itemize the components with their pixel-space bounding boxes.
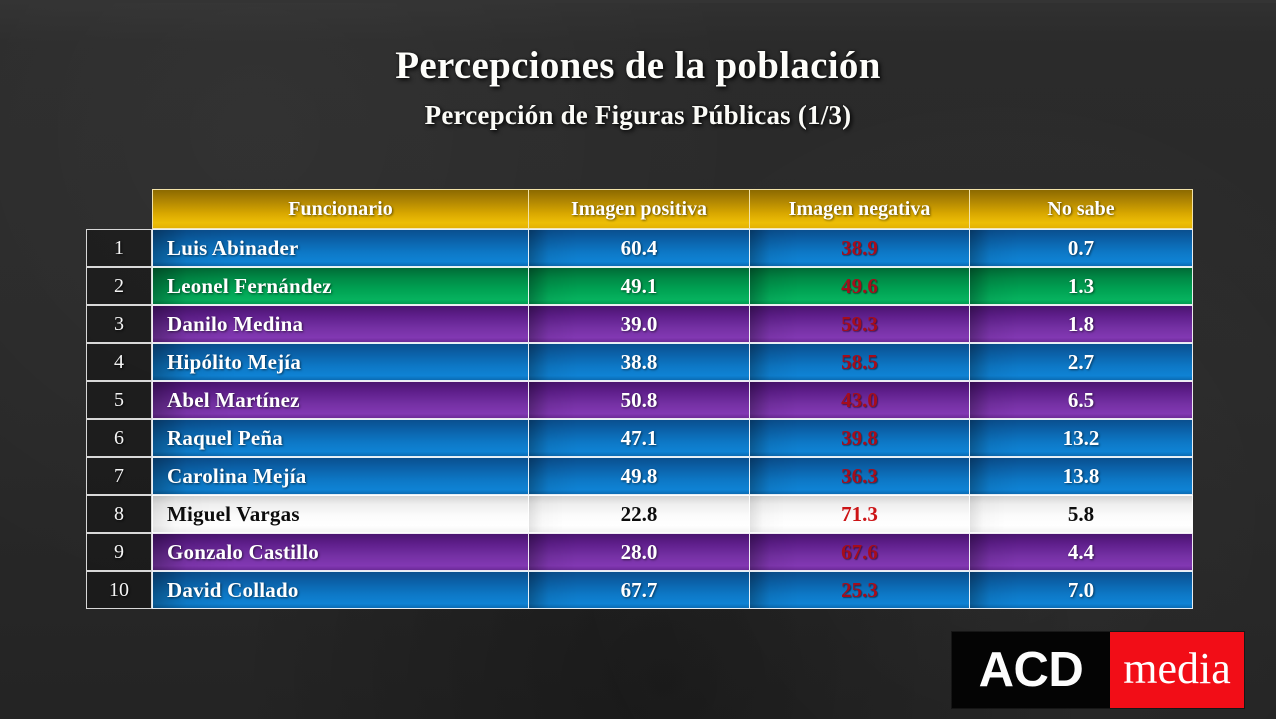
table-header: Funcionario Imagen positiva Imagen negat… <box>86 189 1193 229</box>
cell-imagen-negativa: 71.3 <box>749 495 969 533</box>
cell-no-sabe: 7.0 <box>969 571 1193 609</box>
cell-imagen-positiva: 47.1 <box>528 419 749 457</box>
row-number: 9 <box>86 533 152 571</box>
negative-value-text: 58.5 <box>841 350 878 374</box>
cell-imagen-positiva: 49.8 <box>528 457 749 495</box>
table-header-row: Funcionario Imagen positiva Imagen negat… <box>86 189 1193 229</box>
table-row: 4Hipólito Mejía38.858.52.7 <box>86 343 1193 381</box>
row-number: 5 <box>86 381 152 419</box>
cell-funcionario: David Collado <box>152 571 528 609</box>
cell-imagen-negativa: 59.3 <box>749 305 969 343</box>
negative-value-text: 43.0 <box>841 388 878 412</box>
cell-imagen-negativa: 43.0 <box>749 381 969 419</box>
perception-table-container: Funcionario Imagen positiva Imagen negat… <box>86 189 1193 614</box>
header-corner-cell <box>86 189 152 229</box>
cell-funcionario: Leonel Fernández <box>152 267 528 305</box>
cell-no-sabe: 5.8 <box>969 495 1193 533</box>
acd-media-logo: ACD media <box>952 632 1244 708</box>
cell-imagen-positiva: 49.1 <box>528 267 749 305</box>
row-number: 1 <box>86 229 152 267</box>
cell-imagen-positiva: 39.0 <box>528 305 749 343</box>
table-row: 1Luis Abinader60.438.90.7 <box>86 229 1193 267</box>
cell-no-sabe: 0.7 <box>969 229 1193 267</box>
perception-table: Funcionario Imagen positiva Imagen negat… <box>86 189 1193 609</box>
cell-no-sabe: 13.8 <box>969 457 1193 495</box>
cell-imagen-negativa: 58.5 <box>749 343 969 381</box>
negative-value-text: 67.6 <box>841 540 878 564</box>
cell-imagen-positiva: 22.8 <box>528 495 749 533</box>
cell-funcionario: Carolina Mejía <box>152 457 528 495</box>
page-title: Percepciones de la población <box>0 44 1276 88</box>
cell-funcionario: Abel Martínez <box>152 381 528 419</box>
row-number: 3 <box>86 305 152 343</box>
cell-funcionario: Gonzalo Castillo <box>152 533 528 571</box>
row-number: 8 <box>86 495 152 533</box>
logo-acd-text: ACD <box>979 646 1084 695</box>
cell-imagen-positiva: 67.7 <box>528 571 749 609</box>
negative-value-text: 59.3 <box>841 312 878 336</box>
table-row: 5Abel Martínez50.843.06.5 <box>86 381 1193 419</box>
negative-value-text: 71.3 <box>841 502 878 526</box>
table-row: 10David Collado67.725.37.0 <box>86 571 1193 609</box>
column-header-funcionario: Funcionario <box>152 189 528 229</box>
cell-no-sabe: 6.5 <box>969 381 1193 419</box>
cell-imagen-negativa: 38.9 <box>749 229 969 267</box>
cell-imagen-negativa: 49.6 <box>749 267 969 305</box>
logo-acd-block: ACD <box>952 632 1110 708</box>
cell-imagen-negativa: 67.6 <box>749 533 969 571</box>
cell-funcionario: Luis Abinader <box>152 229 528 267</box>
cell-imagen-positiva: 28.0 <box>528 533 749 571</box>
table-row: 8Miguel Vargas22.871.35.8 <box>86 495 1193 533</box>
cell-imagen-positiva: 38.8 <box>528 343 749 381</box>
table-row: 3Danilo Medina39.059.31.8 <box>86 305 1193 343</box>
row-number: 10 <box>86 571 152 609</box>
column-header-imagen-negativa: Imagen negativa <box>749 189 969 229</box>
cell-funcionario: Danilo Medina <box>152 305 528 343</box>
negative-value-text: 25.3 <box>841 578 878 602</box>
cell-imagen-positiva: 50.8 <box>528 381 749 419</box>
cell-no-sabe: 1.8 <box>969 305 1193 343</box>
table-row: 7Carolina Mejía49.836.313.8 <box>86 457 1193 495</box>
row-number: 2 <box>86 267 152 305</box>
logo-media-block: media <box>1110 632 1244 708</box>
cell-no-sabe: 13.2 <box>969 419 1193 457</box>
cell-no-sabe: 1.3 <box>969 267 1193 305</box>
negative-value-text: 36.3 <box>841 464 878 488</box>
table-body: 1Luis Abinader60.438.90.72Leonel Fernánd… <box>86 229 1193 609</box>
page-subtitle: Percepción de Figuras Públicas (1/3) <box>0 100 1276 131</box>
row-number: 7 <box>86 457 152 495</box>
logo-media-text: media <box>1123 647 1231 693</box>
column-header-no-sabe: No sabe <box>969 189 1193 229</box>
negative-value-text: 38.9 <box>841 236 878 260</box>
cell-no-sabe: 4.4 <box>969 533 1193 571</box>
top-edge-strip <box>0 0 1276 3</box>
cell-funcionario: Hipólito Mejía <box>152 343 528 381</box>
negative-value-text: 39.8 <box>841 426 878 450</box>
table-row: 2Leonel Fernández49.149.61.3 <box>86 267 1193 305</box>
cell-no-sabe: 2.7 <box>969 343 1193 381</box>
title-block: Percepciones de la población Percepción … <box>0 44 1276 131</box>
row-number: 6 <box>86 419 152 457</box>
cell-imagen-negativa: 39.8 <box>749 419 969 457</box>
row-number: 4 <box>86 343 152 381</box>
table-row: 9Gonzalo Castillo28.067.64.4 <box>86 533 1193 571</box>
table-row: 6Raquel Peña47.139.813.2 <box>86 419 1193 457</box>
cell-funcionario: Miguel Vargas <box>152 495 528 533</box>
column-header-imagen-positiva: Imagen positiva <box>528 189 749 229</box>
cell-imagen-negativa: 25.3 <box>749 571 969 609</box>
cell-imagen-negativa: 36.3 <box>749 457 969 495</box>
cell-imagen-positiva: 60.4 <box>528 229 749 267</box>
negative-value-text: 49.6 <box>841 274 878 298</box>
cell-funcionario: Raquel Peña <box>152 419 528 457</box>
